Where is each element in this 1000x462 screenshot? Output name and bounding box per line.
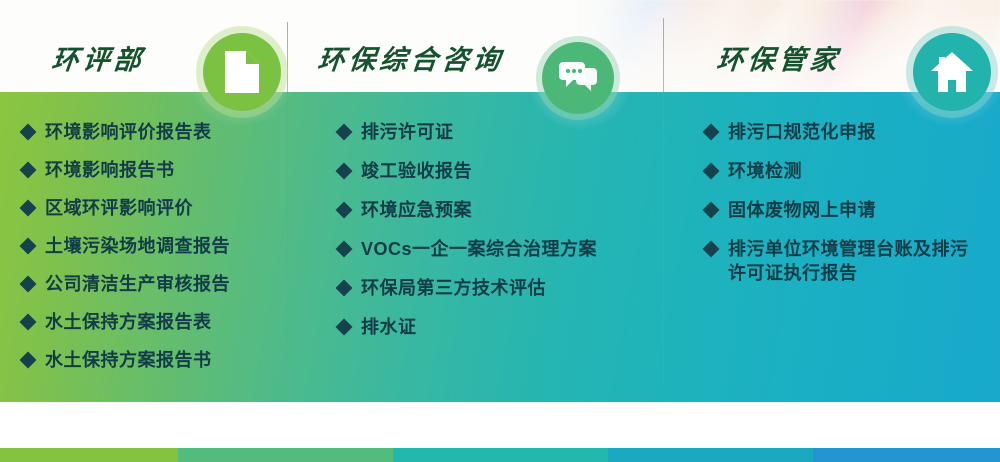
footer-segment-blue [813,448,1000,462]
footer-segment-green [0,448,178,462]
list-item[interactable]: 环境影响评价报告表 [22,120,284,144]
diamond-bullet-icon [336,241,353,258]
list-item-label: 土壤污染场地调查报告 [45,234,230,258]
document-icon [225,51,259,93]
diamond-bullet-icon [703,241,720,258]
list-item-label: 环保局第三方技术评估 [361,276,546,300]
list-item[interactable]: 水土保持方案报告书 [22,348,284,372]
list-item[interactable]: 环境影响报告书 [22,158,284,182]
list-item-label: 固体废物网上申请 [728,198,876,222]
list-item-label: 水土保持方案报告书 [45,348,212,372]
diamond-bullet-icon [336,202,353,219]
footer-segment-blue-teal [608,448,813,462]
list-item-label: 排水证 [361,315,417,339]
bottom-white-gap [0,402,1000,448]
list-item-label: 环境应急预案 [361,198,472,222]
column-2-icon-badge [536,36,620,120]
list-item-label: 区域环评影响评价 [45,196,193,220]
diamond-bullet-icon [20,162,37,179]
column-1-list: 环境影响评价报告表 环境影响报告书 区域环评影响评价 土壤污染场地调查报告 公司… [22,120,284,386]
column-1-icon-circle [203,33,281,111]
column-3-icon-circle [913,33,991,111]
diamond-bullet-icon [336,124,353,141]
diamond-bullet-icon [20,276,37,293]
diamond-bullet-icon [703,124,720,141]
house-icon [931,52,973,92]
list-item[interactable]: 排污许可证 [338,120,656,144]
diamond-bullet-icon [703,163,720,180]
footer-segment-green-teal [178,448,393,462]
list-item-label: 水土保持方案报告表 [45,310,212,334]
footer-color-bar [0,448,1000,462]
list-item[interactable]: 排污单位环境管理台账及排污许可证执行报告 [705,237,977,285]
list-item-label: VOCs一企一案综合治理方案 [361,237,597,261]
poster-root: 环评部 环保综合咨询 环保管家 [0,0,1000,462]
list-item[interactable]: 水土保持方案报告表 [22,310,284,334]
list-item[interactable]: 固体废物网上申请 [705,198,977,222]
diamond-bullet-icon [336,163,353,180]
list-item[interactable]: 排污口规范化申报 [705,120,977,144]
diamond-bullet-icon [703,202,720,219]
column-3-icon-badge [906,26,998,118]
column-2-icon-circle [542,42,614,114]
column-2-heading: 环保综合咨询 [316,38,506,77]
list-item[interactable]: 环境应急预案 [338,198,656,222]
list-item-label: 环境影响报告书 [45,158,175,182]
list-item[interactable]: 环境检测 [705,159,977,183]
list-item-label: 公司清洁生产审核报告 [45,272,230,296]
chat-bubbles-icon [559,62,597,94]
list-item[interactable]: 竣工验收报告 [338,159,656,183]
list-item-label: 排污口规范化申报 [728,120,876,144]
list-item[interactable]: 排水证 [338,315,656,339]
list-item-label: 环境检测 [728,159,802,183]
diamond-bullet-icon [20,124,37,141]
list-item-label: 排污许可证 [361,120,454,144]
list-item[interactable]: 公司清洁生产审核报告 [22,272,284,296]
diamond-bullet-icon [20,352,37,369]
diamond-bullet-icon [336,280,353,297]
column-divider-2 [663,18,664,387]
list-item[interactable]: 环保局第三方技术评估 [338,276,656,300]
column-3-list: 排污口规范化申报 环境检测 固体废物网上申请 排污单位环境管理台账及排污许可证执… [705,120,977,300]
list-item-label: 排污单位环境管理台账及排污许可证执行报告 [728,237,977,285]
diamond-bullet-icon [336,319,353,336]
column-3-heading: 环保管家 [715,38,843,77]
list-item-label: 环境影响评价报告表 [45,120,212,144]
column-1-heading: 环评部 [50,38,147,77]
column-1-icon-badge [196,26,288,118]
footer-segment-teal [393,448,608,462]
diamond-bullet-icon [20,200,37,217]
column-2-list: 排污许可证 竣工验收报告 环境应急预案 VOCs一企一案综合治理方案 环保局第三… [338,120,656,354]
list-item[interactable]: 区域环评影响评价 [22,196,284,220]
list-item[interactable]: 土壤污染场地调查报告 [22,234,284,258]
list-item[interactable]: VOCs一企一案综合治理方案 [338,237,656,261]
list-item-label: 竣工验收报告 [361,159,472,183]
diamond-bullet-icon [20,314,37,331]
diamond-bullet-icon [20,238,37,255]
